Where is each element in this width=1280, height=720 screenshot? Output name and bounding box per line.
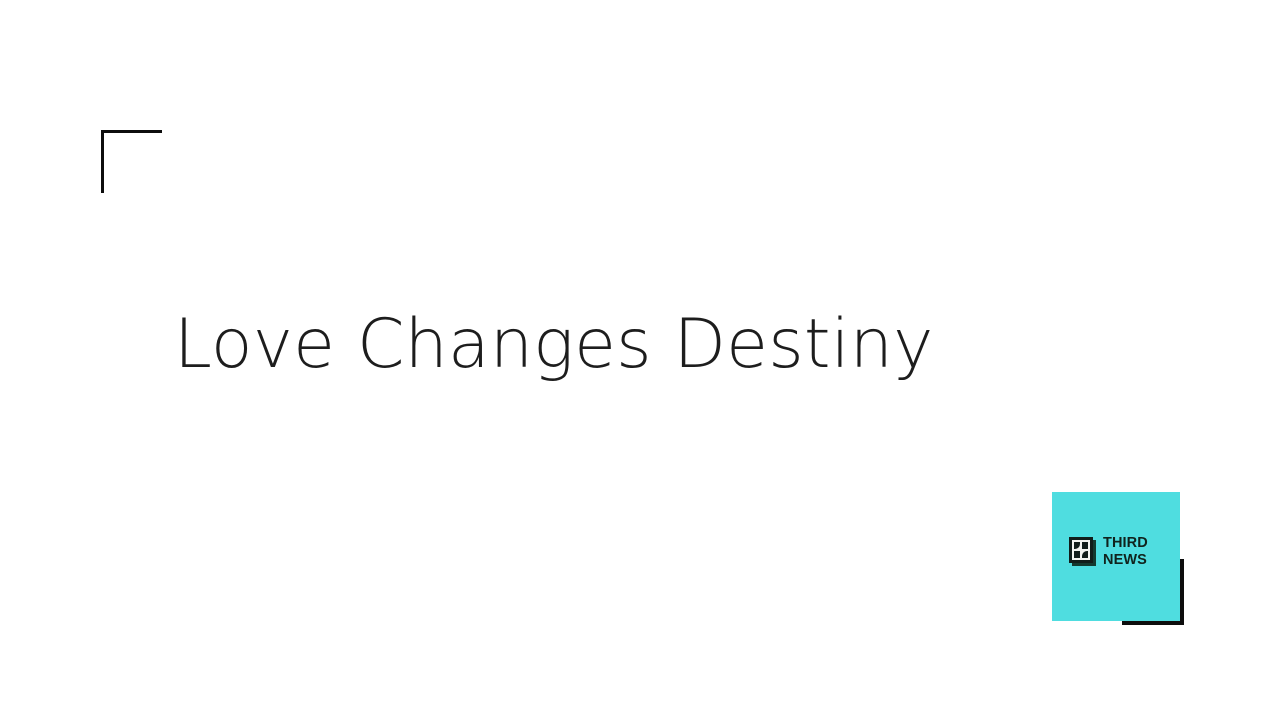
icon-pane-top-left <box>1074 542 1080 549</box>
brand-logo: THIRD NEWS <box>1069 536 1148 567</box>
icon-pane-bottom-left <box>1074 551 1080 558</box>
newspaper-window-grid-icon-inner <box>1072 540 1090 560</box>
slide-title: Love Changes Destiny <box>174 303 1034 387</box>
corner-bracket-bottom-right-vertical-bar <box>1180 559 1184 625</box>
brand-wordmark: THIRD NEWS <box>1103 536 1148 567</box>
corner-bracket-top-left <box>101 130 162 193</box>
newspaper-window-grid-icon <box>1069 537 1096 566</box>
logo-tile: THIRD NEWS <box>1052 492 1180 621</box>
newspaper-window-grid-icon-body <box>1069 537 1093 563</box>
icon-pane-top-right <box>1082 542 1088 549</box>
icon-pane-bottom-right <box>1082 551 1088 558</box>
logo-zone: THIRD NEWS <box>1052 492 1185 626</box>
brand-wordmark-line-1: THIRD <box>1103 536 1148 551</box>
presentation-slide: Love Changes Destiny <box>0 0 1280 720</box>
corner-bracket-top-left-vertical-bar <box>101 130 104 193</box>
corner-bracket-bottom-right-horizontal-bar <box>1122 621 1184 625</box>
brand-wordmark-line-2: NEWS <box>1103 553 1148 568</box>
corner-bracket-top-left-horizontal-bar <box>101 130 162 133</box>
newspaper-window-grid-icon-panes <box>1074 542 1088 558</box>
